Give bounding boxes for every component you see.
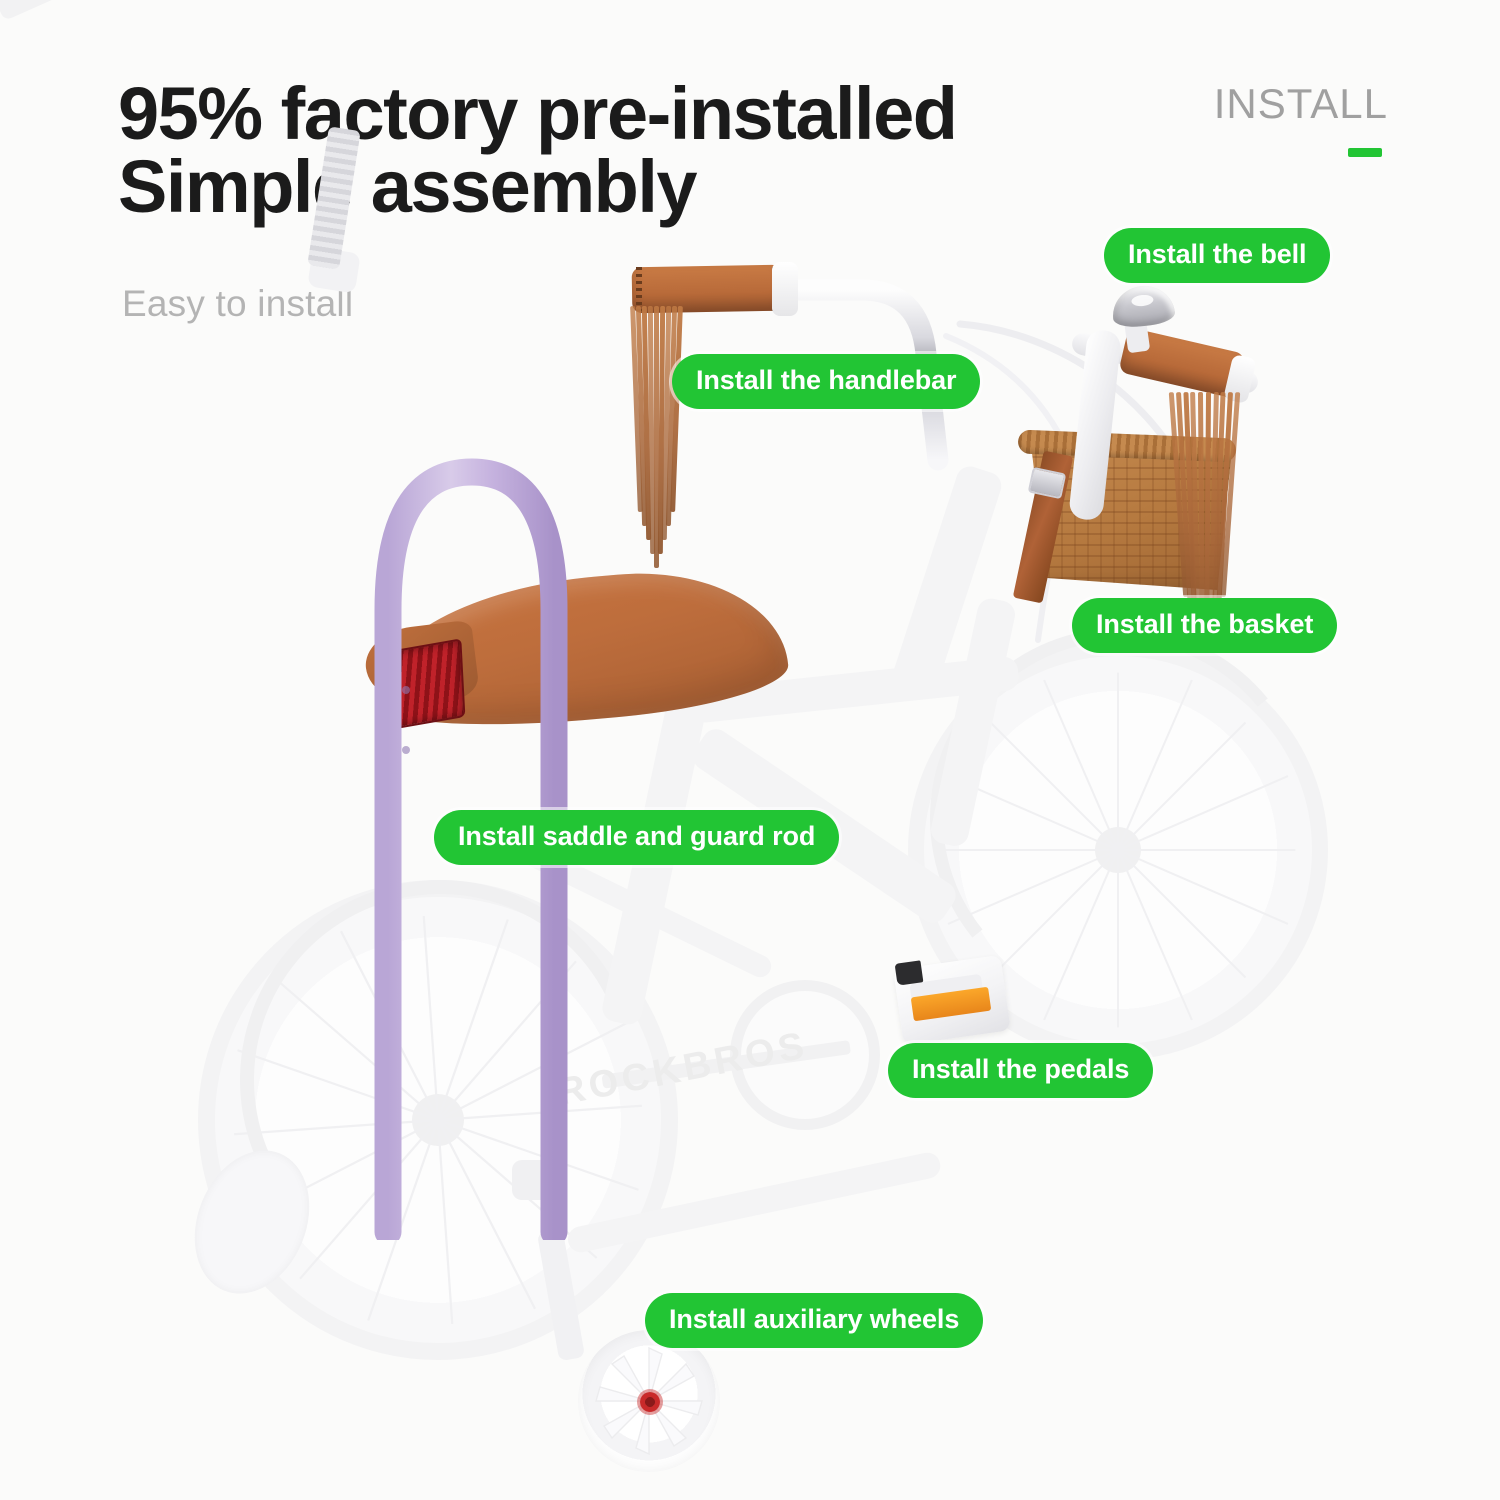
callout-install-basket[interactable]: Install the basket bbox=[1072, 598, 1337, 653]
accent-dash bbox=[1348, 148, 1382, 157]
grip-stitching bbox=[636, 267, 642, 311]
callout-install-saddle[interactable]: Install saddle and guard rod bbox=[434, 810, 839, 865]
callout-install-bell[interactable]: Install the bell bbox=[1104, 228, 1330, 283]
page-subtitle: Easy to install bbox=[122, 283, 353, 325]
grip-tassel-left bbox=[634, 306, 676, 586]
handlebar-assembly bbox=[600, 250, 1030, 590]
crank-arm bbox=[0, 0, 128, 21]
callout-install-handlebar[interactable]: Install the handlebar bbox=[672, 354, 980, 409]
auxiliary-wheel-hub bbox=[640, 1392, 660, 1412]
infographic-canvas: 95% factory pre-installed Simple assembl… bbox=[0, 0, 1500, 1500]
pedal-end-cap bbox=[895, 960, 924, 985]
corner-section-label: INSTALL bbox=[1214, 80, 1388, 128]
callout-install-pedals[interactable]: Install the pedals bbox=[888, 1043, 1153, 1098]
callout-install-wheels[interactable]: Install auxiliary wheels bbox=[645, 1293, 983, 1348]
page-title: 95% factory pre-installed Simple assembl… bbox=[118, 78, 1128, 223]
grip-end-cap-left bbox=[772, 262, 798, 316]
